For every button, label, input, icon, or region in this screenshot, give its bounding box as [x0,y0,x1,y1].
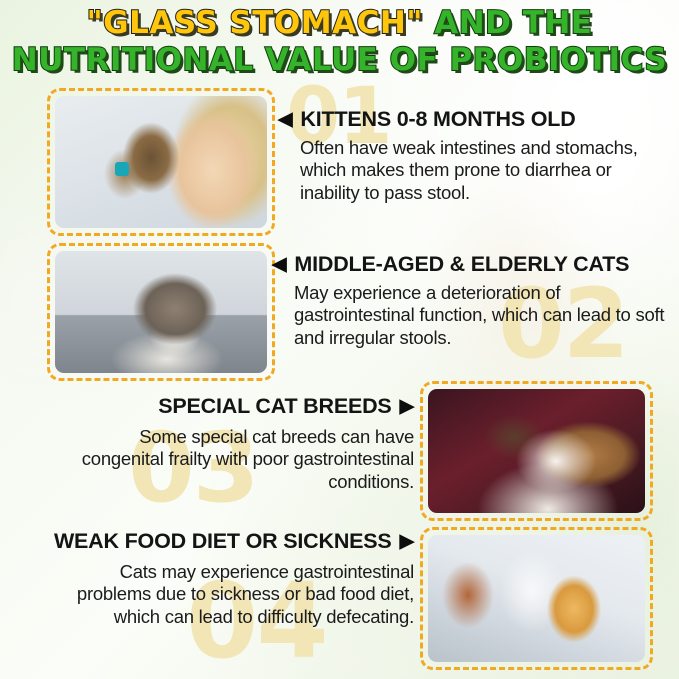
title-and-the: AND THE [434,5,592,41]
section-04-body: Cats may experience gastrointestinal pro… [48,561,414,629]
section-03-heading: SPECIAL CAT BREEDS [158,395,391,419]
triangle-right-icon: ▶ [400,532,414,551]
section-04: WEAK FOOD DIET OR SICKNESS ▶ Cats may ex… [48,530,414,628]
infographic-poster: "GLASS STOMACH" AND THE NUTRITIONAL VALU… [0,0,679,679]
section-01-heading-row: ◀ KITTENS 0-8 MONTHS OLD [278,108,670,132]
ragdoll-cat-photo [428,389,645,513]
title-glass-stomach: "GLASS STOMACH" [87,5,423,41]
photo-frame-vet [420,527,653,670]
section-02-body: May experience a deterioration of gastro… [272,282,672,350]
elderly-tabby-cat-photo [55,251,267,373]
section-01-body: Often have weak intestines and stomachs,… [278,137,670,205]
veterinarian-examining-cat-photo [428,535,645,662]
title-line-1: "GLASS STOMACH" AND THE [0,8,679,40]
section-03-body: Some special cat breeds can have congeni… [62,426,414,494]
section-04-heading: WEAK FOOD DIET OR SICKNESS [54,530,392,554]
section-02: ◀ MIDDLE-AGED & ELDERLY CATS May experie… [272,253,672,349]
title-line-2: NUTRITIONAL VALUE OF PROBIOTICS [0,45,679,77]
section-02-heading-row: ◀ MIDDLE-AGED & ELDERLY CATS [272,253,672,277]
triangle-left-icon: ◀ [272,255,286,274]
photo-frame-kitten [47,88,275,236]
section-03-heading-row: SPECIAL CAT BREEDS ▶ [62,395,414,419]
section-01-heading: KITTENS 0-8 MONTHS OLD [300,108,575,132]
section-03: SPECIAL CAT BREEDS ▶ Some special cat br… [62,395,414,493]
photo-frame-elderly-cat [47,243,275,381]
section-04-heading-row: WEAK FOOD DIET OR SICKNESS ▶ [48,530,414,554]
photo-frame-special-breed [420,381,653,521]
title-nutritional-value: NUTRITIONAL VALUE OF PROBIOTICS [12,42,667,78]
triangle-right-icon: ▶ [400,397,414,416]
woman-holding-kitten-photo [55,96,267,228]
triangle-left-icon: ◀ [278,110,292,129]
section-02-heading: MIDDLE-AGED & ELDERLY CATS [294,253,629,277]
poster-title: "GLASS STOMACH" AND THE NUTRITIONAL VALU… [0,8,679,76]
section-01: ◀ KITTENS 0-8 MONTHS OLD Often have weak… [278,108,670,204]
